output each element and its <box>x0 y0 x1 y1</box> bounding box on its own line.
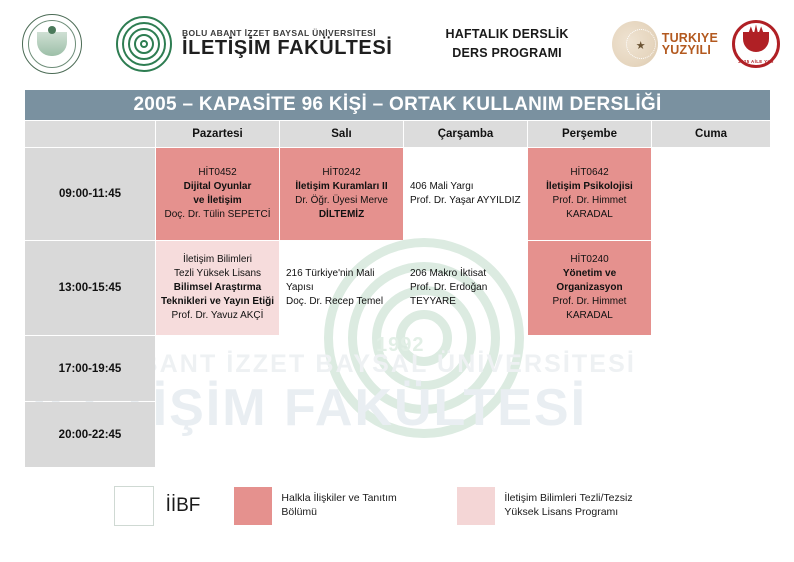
course-text-line: 406 Mali Yargı <box>410 180 527 194</box>
course-text-line: Prof. Dr. Yavuz AKÇİ <box>156 309 279 323</box>
day-header-pazartesi: Pazartesi <box>156 121 279 147</box>
course-text-line: KARADAL <box>528 208 651 222</box>
schedule-cell-course[interactable]: HİT0242İletişim Kuramları IIDr. Öğr. Üye… <box>280 148 403 240</box>
day-header-cuma: Cuma <box>652 121 770 147</box>
legend: İİBFHalkla İlişkiler ve Tanıtım Bölümüİl… <box>24 486 770 526</box>
course-text-line: HİT0242 <box>280 166 403 180</box>
course-text-line: KARADAL <box>528 309 651 323</box>
crescent-star-icon: ★ <box>612 21 658 67</box>
course-text-line: İletişim Bilimleri <box>156 253 279 267</box>
turkiye-line2: YUZYILI <box>662 44 718 57</box>
faculty-logo-faculty-line: İLETİŞİM FAKÜLTESİ <box>182 38 392 59</box>
schedule-row: 09:00-11:45HİT0452Dijital Oyunlarve İlet… <box>25 148 770 240</box>
aile-logo-caption: 2025 AİLE YILI <box>735 59 777 64</box>
course-text-line: Doç. Dr. Tülin SEPETCİ <box>156 208 279 222</box>
legend-color-swatch-salmon <box>234 487 272 525</box>
schedule-table-wrapper: 1992 BOLU ABANT İZZET BAYSAL ÜNİVERSİTES… <box>24 88 770 526</box>
course-text-line: İletişim Kuramları II <box>280 180 403 194</box>
course-text-line: Prof. Dr. Himmet <box>528 194 651 208</box>
legend-color-swatch-white <box>114 486 154 526</box>
legend-label: İletişim Bilimleri Tezli/Tezsiz Yüksek L… <box>504 492 654 520</box>
legend-item: İletişim Bilimleri Tezli/Tezsiz Yüksek L… <box>457 487 680 525</box>
schedule-cell-empty <box>528 402 651 467</box>
course-text-line: HİT0240 <box>528 253 651 267</box>
schedule-cell-empty <box>280 402 403 467</box>
day-header-perembe: Perşembe <box>528 121 651 147</box>
schedule-cell-course[interactable]: HİT0240Yönetim veOrganizasyonProf. Dr. H… <box>528 241 651 335</box>
university-seal-icon <box>22 14 82 74</box>
course-text-line: Doç. Dr. Recep Temel <box>286 295 403 309</box>
legend-label: Halkla İlişkiler ve Tanıtım Bölümü <box>281 492 431 520</box>
page-header: BOLU ABANT İZZET BAYSAL ÜNİVERSİTESİ İLE… <box>0 0 794 88</box>
time-slot-label: 17:00-19:45 <box>25 336 155 401</box>
time-slot-label: 09:00-11:45 <box>25 148 155 240</box>
turkiye-yuzyili-text: TURKIYE YUZYILI <box>662 32 718 57</box>
course-text-line: Tezli Yüksek Lisans <box>156 267 279 281</box>
schedule-row: 13:00-15:45İletişim BilimleriTezli Yükse… <box>25 241 770 335</box>
faculty-logo-text: BOLU ABANT İZZET BAYSAL ÜNİVERSİTESİ İLE… <box>182 29 392 59</box>
schedule-cell-course[interactable]: 216 Türkiye'nin Mali YapısıDoç. Dr. Rece… <box>280 241 403 335</box>
right-logos: ★ TURKIYE YUZYILI 2025 AİLE YILI <box>612 20 780 68</box>
course-text-line: HİT0452 <box>156 166 279 180</box>
star-glyph: ★ <box>636 41 646 52</box>
schedule-cell-course[interactable]: 406 Mali YargıProf. Dr. Yaşar AYYILDIZ <box>404 148 527 240</box>
course-text-line: Bilimsel Araştırma <box>156 281 279 295</box>
legend-label: İİBF <box>166 493 201 518</box>
schedule-cell-course[interactable]: HİT0452Dijital Oyunlarve İletişimDoç. Dr… <box>156 148 279 240</box>
course-text-line: Teknikleri ve Yayın Etiği <box>156 295 279 309</box>
schedule-cell-empty <box>652 148 770 240</box>
course-text-line: DİLTEMİZ <box>280 208 403 222</box>
page-title: HAFTALIK DERSLİK DERS PROGRAMI <box>392 25 611 64</box>
course-text-line: Yönetim ve <box>528 267 651 281</box>
course-text-line: İletişim Psikolojisi <box>528 180 651 194</box>
turkiye-yuzyili-logo: ★ TURKIYE YUZYILI <box>612 21 718 67</box>
schedule-cell-empty <box>404 336 527 401</box>
course-text-line: Prof. Dr. Yaşar AYYILDIZ <box>410 194 527 208</box>
schedule-cell-empty <box>652 241 770 335</box>
schedule-cell-course[interactable]: 206 Makro İktisatProf. Dr. Erdoğan TEYYA… <box>404 241 527 335</box>
university-seal-logo <box>14 14 82 74</box>
legend-item: Halkla İlişkiler ve Tanıtım Bölümü <box>234 487 457 525</box>
schedule-cell-empty <box>156 402 279 467</box>
schedule-cell-empty <box>652 402 770 467</box>
course-text-line: Organizasyon <box>528 281 651 295</box>
course-text-line: HİT0642 <box>528 166 651 180</box>
weekly-schedule-table: 2005 – KAPASİTE 96 KİŞİ – ORTAK KULLANIM… <box>24 88 771 468</box>
table-corner-header <box>25 121 155 147</box>
faculty-logo: BOLU ABANT İZZET BAYSAL ÜNİVERSİTESİ İLE… <box>116 16 392 72</box>
schedule-row: 17:00-19:45 <box>25 336 770 401</box>
schedule-banner-title: 2005 – KAPASİTE 96 KİŞİ – ORTAK KULLANIM… <box>25 89 770 120</box>
course-text-line: 206 Makro İktisat <box>410 267 527 281</box>
spiral-icon <box>116 16 172 72</box>
schedule-row: 20:00-22:45 <box>25 402 770 467</box>
page-title-line2: DERS PROGRAMI <box>402 44 611 63</box>
schedule-cell-empty <box>528 336 651 401</box>
course-text-line: ve İletişim <box>156 194 279 208</box>
aile-yili-logo-icon: 2025 AİLE YILI <box>732 20 780 68</box>
course-text-line: Dijital Oyunlar <box>156 180 279 194</box>
course-text-line: 216 Türkiye'nin Mali Yapısı <box>286 267 403 295</box>
schedule-cell-empty <box>404 402 527 467</box>
course-text-line: Dr. Öğr. Üyesi Merve <box>280 194 403 208</box>
schedule-cell-empty <box>280 336 403 401</box>
schedule-cell-course[interactable]: İletişim BilimleriTezli Yüksek LisansBil… <box>156 241 279 335</box>
schedule-cell-empty <box>652 336 770 401</box>
page-title-line1: HAFTALIK DERSLİK <box>402 25 611 44</box>
legend-item: İİBF <box>114 486 235 526</box>
course-text-line: Prof. Dr. Erdoğan TEYYARE <box>410 281 527 309</box>
course-text-line: Prof. Dr. Himmet <box>528 295 651 309</box>
time-slot-label: 20:00-22:45 <box>25 402 155 467</box>
day-header-sal: Salı <box>280 121 403 147</box>
aile-family-glyph <box>743 32 769 52</box>
time-slot-label: 13:00-15:45 <box>25 241 155 335</box>
schedule-cell-course[interactable]: HİT0642İletişim PsikolojisiProf. Dr. Him… <box>528 148 651 240</box>
schedule-cell-empty <box>156 336 279 401</box>
legend-color-swatch-lightpink <box>457 487 495 525</box>
day-header-aramba: Çarşamba <box>404 121 527 147</box>
